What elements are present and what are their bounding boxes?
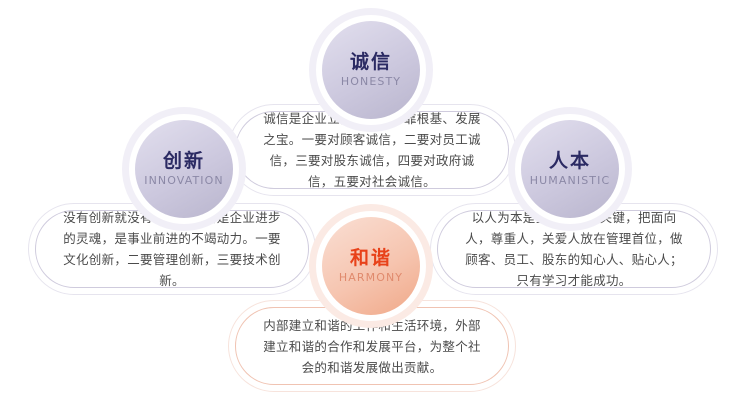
node-harmony-label-cn: 和谐 [350,248,392,269]
node-innovation-disc: 创新 INNOVATION [135,120,233,218]
node-harmony-label-en: HARMONY [339,271,403,284]
node-innovation-label-cn: 创新 [163,151,205,172]
node-honesty-label-en: HONESTY [341,75,401,88]
node-innovation-label-en: INNOVATION [144,174,224,187]
node-innovation[interactable]: 创新 INNOVATION [122,107,246,231]
node-humanistic-disc: 人本 HUMANISTIC [521,120,619,218]
node-harmony[interactable]: 和谐 HARMONY [309,204,433,328]
node-honesty-disc: 诚信 HONESTY [322,21,420,119]
node-honesty-label-cn: 诚信 [350,52,392,73]
node-harmony-disc: 和谐 HARMONY [322,217,420,315]
node-humanistic[interactable]: 人本 HUMANISTIC [508,107,632,231]
node-humanistic-label-en: HUMANISTIC [530,174,610,187]
diagram-canvas: 诚信是企业立身之本、可靠根基、发展之宝。一要对顾客诚信，二要对员工诚信，三要对股… [0,0,740,401]
node-humanistic-label-cn: 人本 [549,151,591,172]
node-honesty[interactable]: 诚信 HONESTY [309,8,433,132]
